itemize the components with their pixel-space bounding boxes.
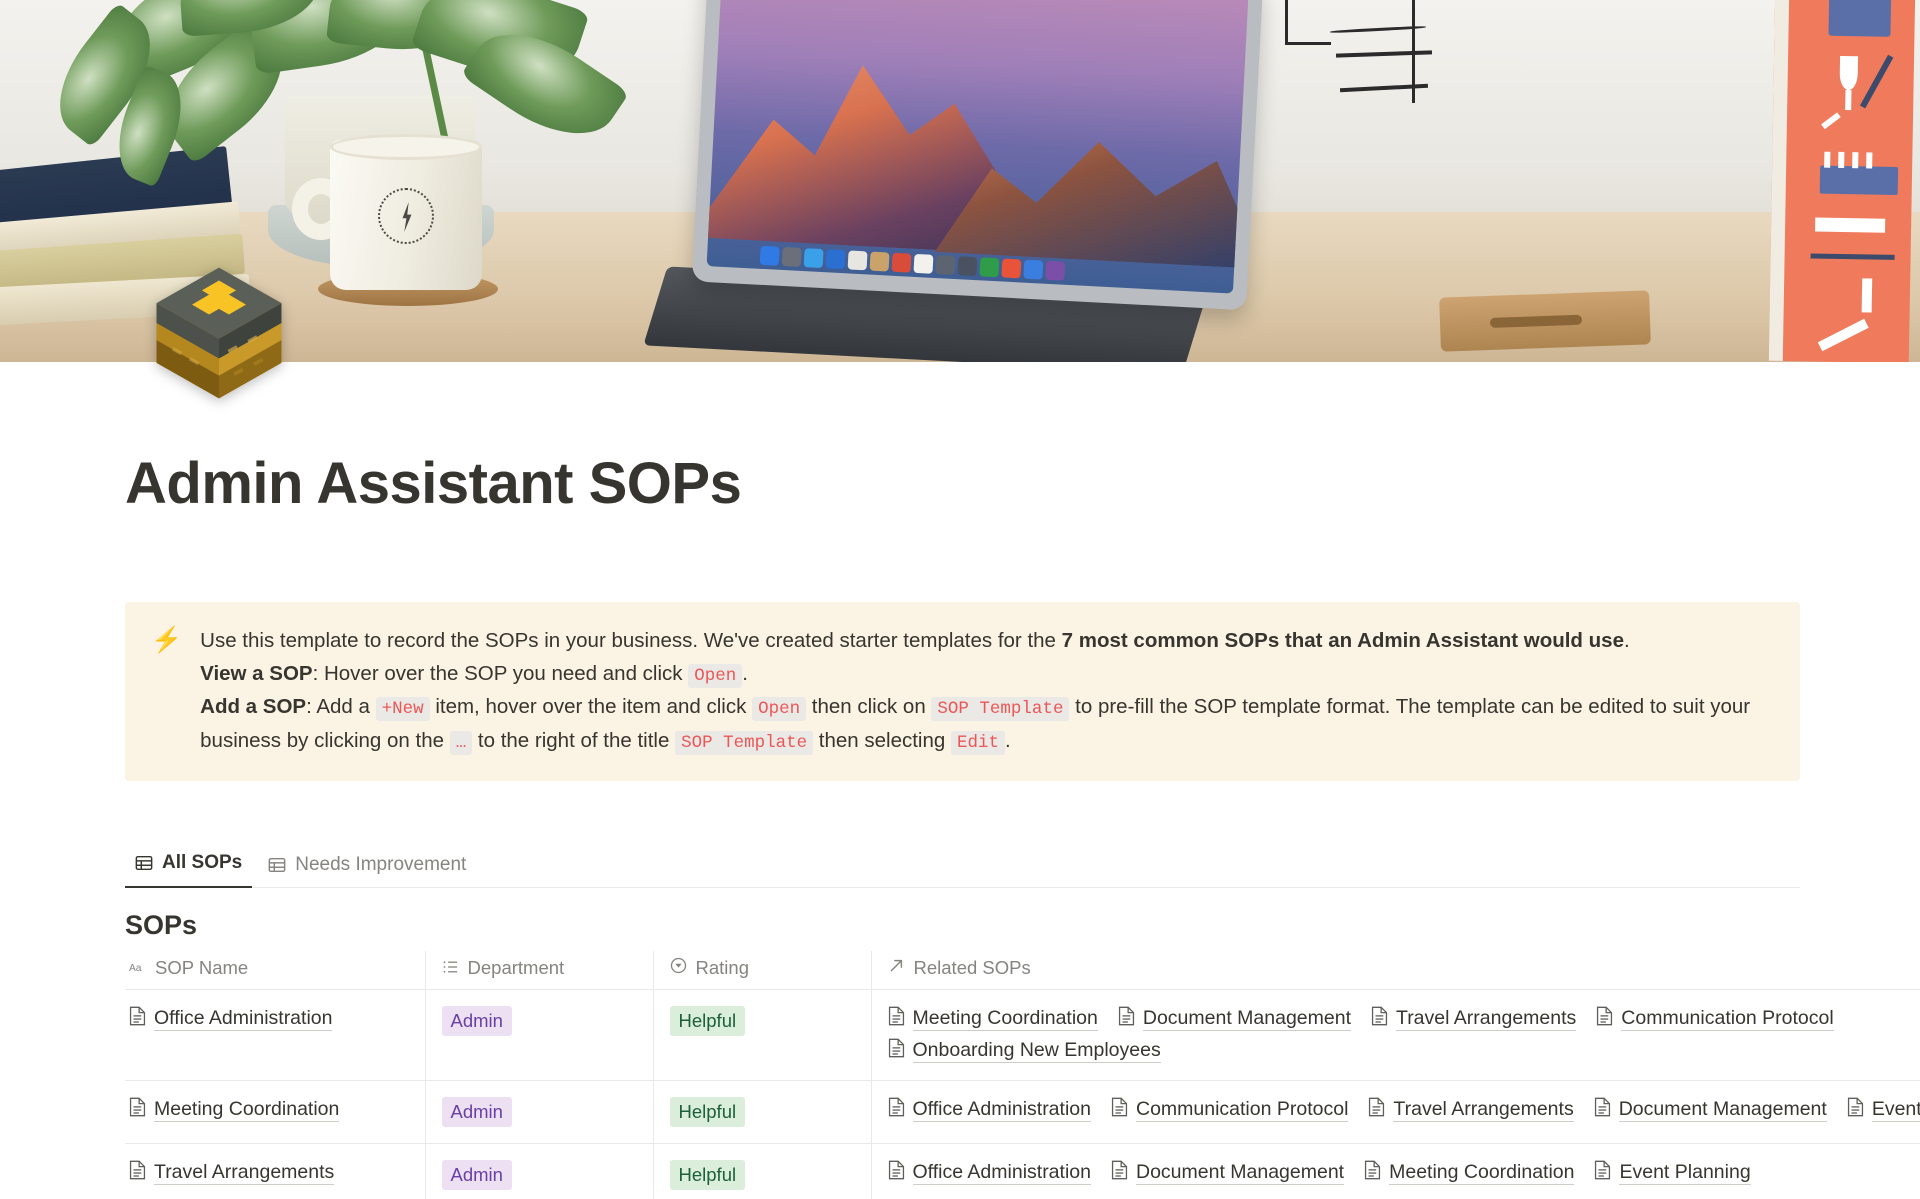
callout-line2-a: : Hover over the SOP you need and click (313, 662, 689, 685)
sop-name-label: Office Administration (154, 1007, 332, 1031)
related-sops-list: Office AdministrationDocument Management… (888, 1160, 1920, 1186)
document-icon (1847, 1097, 1864, 1123)
edit-code-pill[interactable]: Edit (951, 731, 1005, 755)
svg-text:Aa: Aa (129, 963, 142, 974)
related-sop-link[interactable]: Travel Arrangements (1371, 1006, 1576, 1032)
document-icon (1118, 1006, 1135, 1032)
related-sop-link[interactable]: Meeting Coordination (888, 1006, 1098, 1032)
cell-department[interactable]: Admin (425, 1144, 653, 1199)
column-label: SOP Name (155, 957, 248, 979)
tab-needs-improvement[interactable]: Needs Improvement (258, 846, 476, 888)
whiteboard-scribble (1285, 42, 1331, 45)
column-header-rating[interactable]: Rating (653, 951, 871, 990)
cell-department[interactable]: Admin (425, 1081, 653, 1144)
document-icon (888, 1006, 905, 1032)
laptop-wallpaper (707, 0, 1249, 294)
cell-related-sops[interactable]: Office AdministrationDocument Management… (871, 1144, 1920, 1199)
cell-sop-name[interactable]: Travel Arrangements (125, 1144, 425, 1199)
related-sop-link[interactable]: Office Administration (888, 1160, 1091, 1186)
database-view-tabs: All SOPs Needs Improvement (125, 843, 1800, 888)
related-sop-label: Document Management (1136, 1161, 1344, 1185)
tab-label: Needs Improvement (295, 854, 466, 876)
document-icon (129, 1160, 146, 1186)
related-sop-label: Document Management (1619, 1098, 1827, 1122)
mug-rim (330, 134, 482, 160)
column-label: Related SOPs (914, 957, 1031, 979)
column-header-sop-name[interactable]: Aa SOP Name (125, 951, 425, 990)
related-sop-link[interactable]: Meeting Coordination (1364, 1160, 1574, 1186)
cell-sop-name[interactable]: Meeting Coordination (125, 1081, 425, 1144)
cell-rating[interactable]: Helpful (653, 990, 871, 1081)
open-code-pill[interactable]: Open (688, 664, 742, 688)
sop-page-link[interactable]: Travel Arrangements (129, 1160, 334, 1186)
add-a-sop-label: Add a SOP (200, 695, 306, 718)
callout-line-1: Use this template to record the SOPs in … (200, 624, 1772, 657)
related-sop-label: Meeting Coordination (913, 1007, 1098, 1031)
orange-infographic-poster (1769, 0, 1915, 362)
related-sop-link[interactable]: Document Management (1118, 1006, 1351, 1032)
lightning-bolt-icon (400, 202, 414, 232)
column-header-related-sops[interactable]: Related SOPs (871, 951, 1920, 990)
document-icon (1111, 1160, 1128, 1186)
related-sop-link[interactable]: Document Management (1594, 1097, 1827, 1123)
table-row[interactable]: Office AdministrationAdminHelpfulMeeting… (125, 990, 1920, 1081)
sop-page-link[interactable]: Meeting Coordination (129, 1097, 339, 1123)
tab-label: All SOPs (162, 852, 242, 874)
sop-page-link[interactable]: Office Administration (129, 1006, 332, 1032)
whiteboard-scribble (1285, 0, 1288, 42)
document-icon (129, 1006, 146, 1032)
rating-tag: Helpful (670, 1097, 746, 1127)
cell-related-sops[interactable]: Office AdministrationCommunication Proto… (871, 1081, 1920, 1144)
column-header-department[interactable]: Department (425, 951, 653, 990)
sop-name-label: Travel Arrangements (154, 1161, 334, 1185)
select-icon (670, 957, 687, 979)
cork-slot (1490, 315, 1582, 328)
department-tag: Admin (442, 1160, 512, 1190)
cell-rating[interactable]: Helpful (653, 1144, 871, 1199)
column-label: Rating (696, 957, 749, 979)
related-sop-label: Document Management (1143, 1007, 1351, 1031)
document-icon (1371, 1006, 1388, 1032)
document-icon (1111, 1097, 1128, 1123)
ellipsis-code-pill[interactable]: … (450, 731, 473, 755)
sop-name-label: Meeting Coordination (154, 1098, 339, 1122)
callout-line3-c: then click on (806, 695, 931, 718)
table-row[interactable]: Travel ArrangementsAdminHelpfulOffice Ad… (125, 1144, 1920, 1199)
callout-line-2: View a SOP: Hover over the SOP you need … (200, 657, 1772, 690)
related-sop-label: Communication Protocol (1621, 1007, 1833, 1031)
callout-line2-b: . (742, 662, 748, 685)
related-sop-label: Travel Arrangements (1393, 1098, 1573, 1122)
callout-line3-e: to the right of the title (472, 729, 675, 752)
related-sops-list: Office AdministrationCommunication Proto… (888, 1097, 1920, 1123)
callout-block: ⚡ Use this template to record the SOPs i… (125, 602, 1800, 781)
table-row[interactable]: Meeting CoordinationAdminHelpfulOffice A… (125, 1081, 1920, 1144)
cell-rating[interactable]: Helpful (653, 1081, 871, 1144)
related-sop-link[interactable]: Event Planning (1594, 1160, 1750, 1186)
related-sops-list: Meeting CoordinationDocument ManagementT… (888, 1006, 1920, 1064)
callout-line3-a: : Add a (306, 695, 376, 718)
callout-line3-g: . (1005, 729, 1011, 752)
sops-table: Aa SOP Name (125, 951, 1920, 1199)
document-icon (1368, 1097, 1385, 1123)
callout-line3-f: then selecting (813, 729, 951, 752)
lightning-bolt-icon: ⚡ (151, 624, 182, 757)
tab-all-sops[interactable]: All SOPs (125, 844, 252, 888)
cell-related-sops[interactable]: Meeting CoordinationDocument ManagementT… (871, 990, 1920, 1081)
table-header-row: Aa SOP Name (125, 951, 1920, 990)
callout-line3-b: item, hover over the item and click (430, 695, 752, 718)
related-sop-link[interactable]: Event Planning (1847, 1097, 1920, 1123)
callout-line1-a: Use this template to record the SOPs in … (200, 629, 1062, 652)
rating-tag: Helpful (670, 1006, 746, 1036)
related-sop-label: Event Planning (1872, 1098, 1920, 1122)
document-icon (888, 1038, 905, 1064)
document-icon (888, 1097, 905, 1123)
related-sop-label: Onboarding New Employees (913, 1039, 1161, 1063)
related-sop-label: Event Planning (1619, 1161, 1750, 1185)
related-sop-link[interactable]: Office Administration (888, 1097, 1091, 1123)
sop-template-code-pill[interactable]: SOP Template (675, 731, 813, 755)
cell-department[interactable]: Admin (425, 990, 653, 1081)
document-icon (129, 1097, 146, 1123)
table-icon (135, 854, 153, 872)
document-icon (888, 1160, 905, 1186)
callout-line1-c: . (1624, 629, 1630, 652)
page-content: Admin Assistant SOPs ⚡ Use this template… (0, 452, 1920, 1199)
related-sop-link[interactable]: Communication Protocol (1111, 1097, 1348, 1123)
open-code-pill[interactable]: Open (752, 697, 806, 721)
document-icon (1594, 1097, 1611, 1123)
laptop-screen (692, 0, 1264, 310)
related-sop-link[interactable]: Communication Protocol (1596, 1006, 1833, 1032)
callout-line1-bold: 7 most common SOPs that an Admin Assista… (1062, 629, 1624, 652)
mug-logo (378, 188, 434, 244)
title-aa-icon: Aa (129, 957, 146, 979)
related-sop-link[interactable]: Onboarding New Employees (888, 1038, 1161, 1064)
related-sop-label: Travel Arrangements (1396, 1007, 1576, 1031)
document-icon (1594, 1160, 1611, 1186)
rating-tag: Helpful (670, 1160, 746, 1190)
relation-arrow-icon (888, 957, 905, 979)
related-sop-label: Communication Protocol (1136, 1098, 1348, 1122)
related-sop-label: Office Administration (913, 1161, 1091, 1185)
column-label: Department (468, 957, 565, 979)
table-icon (268, 856, 286, 874)
database-title[interactable]: SOPs (125, 910, 1800, 941)
related-sop-link[interactable]: Travel Arrangements (1368, 1097, 1573, 1123)
callout-line-3: Add a SOP: Add a +New item, hover over t… (200, 690, 1772, 757)
cell-sop-name[interactable]: Office Administration (125, 990, 425, 1081)
view-a-sop-label: View a SOP (200, 662, 312, 685)
multi-select-icon (442, 957, 459, 979)
callout-text: Use this template to record the SOPs in … (200, 624, 1772, 757)
sop-template-code-pill[interactable]: SOP Template (931, 697, 1069, 721)
document-icon (1596, 1006, 1613, 1032)
table-body: Office AdministrationAdminHelpfulMeeting… (125, 990, 1920, 1199)
page-icon-cube[interactable] (148, 262, 290, 404)
document-icon (1364, 1160, 1381, 1186)
new-code-pill[interactable]: +New (376, 697, 430, 721)
related-sop-label: Meeting Coordination (1389, 1161, 1574, 1185)
cork-block (1439, 290, 1651, 351)
department-tag: Admin (442, 1097, 512, 1127)
related-sop-label: Office Administration (913, 1098, 1091, 1122)
related-sop-link[interactable]: Document Management (1111, 1160, 1344, 1186)
page-title[interactable]: Admin Assistant SOPs (125, 452, 1800, 516)
department-tag: Admin (442, 1006, 512, 1036)
